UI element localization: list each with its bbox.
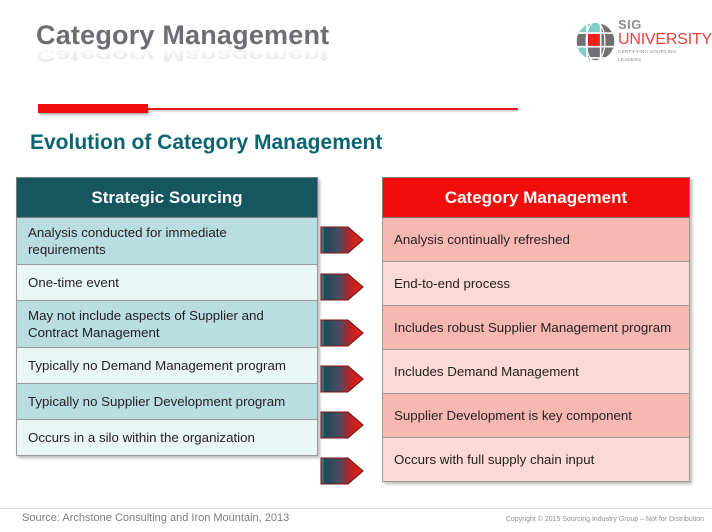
table-row: Typically no Demand Management program bbox=[16, 348, 318, 384]
right-chevron-arrow-icon bbox=[320, 364, 364, 394]
table-row: Occurs in a silo within the organization bbox=[16, 420, 318, 456]
logo-line-university: UNIVERSITY bbox=[618, 31, 696, 48]
logo-wordmark: SIG UNIVERSITY CERTIFYING SOURCING LEADE… bbox=[618, 19, 696, 64]
table-row: May not include aspects of Supplier and … bbox=[16, 301, 318, 348]
table-row: Supplier Development is key component bbox=[382, 394, 690, 438]
table-row: One-time event bbox=[16, 265, 318, 301]
footer-divider bbox=[0, 508, 712, 509]
sig-university-logo: SIG UNIVERSITY CERTIFYING SOURCING LEADE… bbox=[572, 18, 696, 66]
source-citation: Source: Archstone Consulting and Iron Mo… bbox=[22, 512, 289, 524]
copyright-notice: Copyright © 2015 Sourcing Industry Group… bbox=[506, 516, 704, 523]
strategic-sourcing-table: Strategic Sourcing Analysis conducted fo… bbox=[16, 177, 318, 456]
table-header-category-management: Category Management bbox=[382, 177, 690, 218]
table-row: End-to-end process bbox=[382, 262, 690, 306]
category-management-table: Category Management Analysis continually… bbox=[382, 177, 690, 482]
logo-line-sig: SIG bbox=[618, 19, 696, 31]
accent-bar bbox=[38, 104, 148, 113]
table-row: Occurs with full supply chain input bbox=[382, 438, 690, 482]
table-row: Includes Demand Management bbox=[382, 350, 690, 394]
table-row: Includes robust Supplier Management prog… bbox=[382, 306, 690, 350]
accent-line bbox=[148, 108, 518, 110]
arrow-strip bbox=[320, 177, 378, 497]
right-chevron-arrow-icon bbox=[320, 456, 364, 486]
section-heading: Evolution of Category Management bbox=[30, 131, 382, 155]
page-title: Category Management bbox=[36, 20, 329, 51]
table-header-strategic-sourcing: Strategic Sourcing bbox=[16, 177, 318, 218]
right-chevron-arrow-icon bbox=[320, 225, 364, 255]
right-chevron-arrow-icon bbox=[320, 318, 364, 348]
table-row: Typically no Supplier Development progra… bbox=[16, 384, 318, 420]
table-row: Analysis conducted for immediate require… bbox=[16, 218, 318, 265]
logo-tagline: CERTIFYING SOURCING LEADERS bbox=[618, 48, 696, 64]
right-chevron-arrow-icon bbox=[320, 410, 364, 440]
right-chevron-arrow-icon bbox=[320, 272, 364, 302]
table-row: Analysis continually refreshed bbox=[382, 218, 690, 262]
globe-icon bbox=[572, 18, 619, 65]
